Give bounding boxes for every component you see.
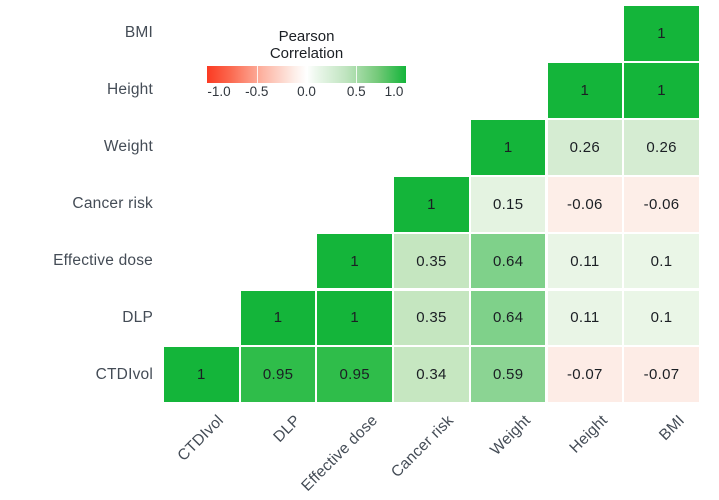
heatmap-cell: 0.64: [470, 233, 547, 290]
colorbar-legend: Pearson Correlation -1.0-0.50.00.51.0: [207, 28, 406, 102]
cell-value: 0.1: [651, 309, 673, 326]
colorbar-title: Pearson Correlation: [207, 28, 406, 62]
y-axis-label: Cancer risk: [72, 195, 153, 213]
heatmap-cell: 0.1: [623, 233, 700, 290]
cell-value: 0.59: [493, 366, 523, 383]
cell-value: 0.26: [570, 139, 600, 156]
heatmap-cell: 0.15: [470, 176, 547, 233]
cell-value: -0.06: [567, 196, 603, 213]
cell-value: 0.35: [416, 253, 446, 270]
cell-value: -0.07: [567, 366, 603, 383]
correlation-heatmap: Pearson Correlation -1.0-0.50.00.51.0 BM…: [0, 0, 719, 500]
cell-value: 1: [657, 25, 666, 42]
heatmap-cell: 0.11: [547, 290, 624, 347]
colorbar-tick-mark: [307, 66, 308, 83]
colorbar-tick-mark: [257, 66, 258, 83]
heatmap-cell: 1: [393, 176, 470, 233]
cell-value: -0.07: [644, 366, 680, 383]
cell-value: 0.64: [493, 253, 523, 270]
colorbar-tick-labels: -1.0-0.50.00.51.0: [207, 84, 406, 102]
cell-value: 0.64: [493, 309, 523, 326]
cell-value: 0.26: [646, 139, 676, 156]
colorbar-tick-mark: [356, 66, 357, 83]
x-axis-label: DLP: [270, 412, 304, 446]
heatmap-cell: 1: [623, 5, 700, 62]
cell-value: 0.11: [570, 309, 599, 326]
x-axis-label: BMI: [656, 412, 689, 445]
heatmap-cell: -0.07: [623, 346, 700, 403]
y-axis-label: Effective dose: [53, 252, 153, 270]
heatmap-cell: -0.06: [623, 176, 700, 233]
heatmap-cell: 0.34: [393, 346, 470, 403]
cell-value: 1: [581, 82, 590, 99]
heatmap-cell: 0.64: [470, 290, 547, 347]
cell-value: 1: [427, 196, 436, 213]
cell-value: 0.11: [570, 253, 599, 270]
colorbar-tick-label: 1.0: [385, 84, 404, 99]
colorbar-title-line1: Pearson: [207, 28, 406, 45]
cell-value: 1: [657, 82, 666, 99]
heatmap-cell: -0.06: [547, 176, 624, 233]
colorbar-tick-label: 0.5: [347, 84, 366, 99]
colorbar-tick-label: 0.0: [297, 84, 316, 99]
colorbar-title-line2: Correlation: [207, 45, 406, 62]
colorbar-tick-label: -0.5: [245, 84, 268, 99]
cell-value: 1: [274, 309, 283, 326]
cell-value: 0.15: [493, 196, 523, 213]
cell-value: 1: [350, 253, 359, 270]
y-axis-label: DLP: [122, 309, 153, 327]
cell-value: 1: [197, 366, 206, 383]
heatmap-cell: 0.35: [393, 290, 470, 347]
cell-value: 1: [504, 139, 513, 156]
heatmap-cell: 1: [623, 62, 700, 119]
heatmap-cell: 1: [163, 346, 240, 403]
heatmap-cell: 0.1: [623, 290, 700, 347]
x-axis-label: Cancer risk: [388, 412, 458, 482]
heatmap-cell: 1: [547, 62, 624, 119]
colorbar-tick-label: -1.0: [207, 84, 230, 99]
heatmap-cell: 0.95: [240, 346, 317, 403]
x-axis-label: CTDIvol: [175, 412, 228, 465]
heatmap-cell: 0.95: [316, 346, 393, 403]
heatmap-cell: 0.35: [393, 233, 470, 290]
heatmap-cell: 0.59: [470, 346, 547, 403]
cell-value: 0.34: [416, 366, 446, 383]
y-axis-label: Height: [107, 81, 153, 99]
cell-value: 1: [350, 309, 359, 326]
cell-value: 0.1: [651, 253, 673, 270]
heatmap-cell: 1: [316, 290, 393, 347]
heatmap-cell: -0.07: [547, 346, 624, 403]
cell-value: -0.06: [644, 196, 680, 213]
y-axis-label: CTDIvol: [96, 366, 153, 384]
x-axis-label: Weight: [487, 412, 534, 459]
cell-value: 0.95: [263, 366, 293, 383]
y-axis-label: BMI: [125, 24, 153, 42]
heatmap-cell: 1: [240, 290, 317, 347]
cell-value: 0.95: [340, 366, 370, 383]
x-axis-label: Effective dose: [298, 412, 381, 495]
colorbar-gradient: [207, 66, 406, 83]
heatmap-cell: 1: [316, 233, 393, 290]
heatmap-cell: 0.26: [623, 119, 700, 176]
cell-value: 0.35: [416, 309, 446, 326]
x-axis-label: Height: [566, 412, 611, 457]
heatmap-cell: 1: [470, 119, 547, 176]
heatmap-cell: 0.26: [547, 119, 624, 176]
heatmap-cell: 0.11: [547, 233, 624, 290]
y-axis-label: Weight: [104, 138, 153, 156]
